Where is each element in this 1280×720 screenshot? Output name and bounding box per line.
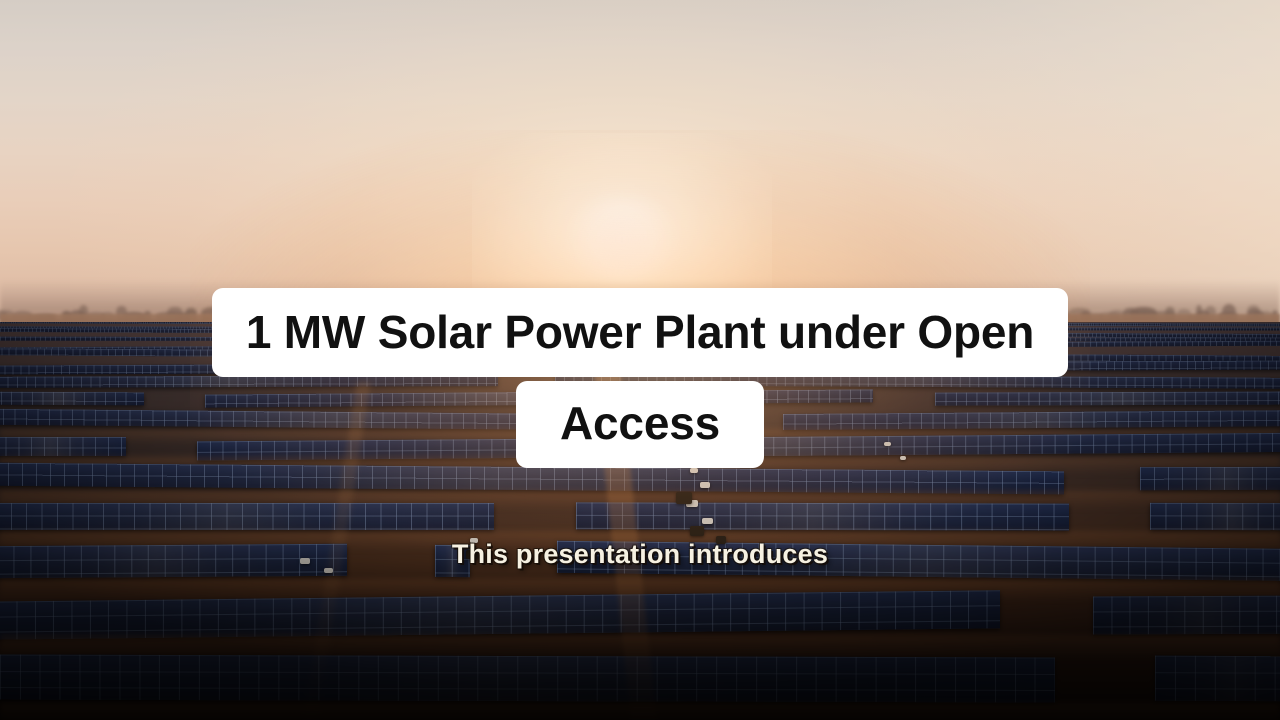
panel-sun-sheen: [576, 502, 1069, 531]
sun-disc: [567, 198, 677, 282]
panel-sun-sheen: [0, 503, 494, 530]
slide-title-block: 1 MW Solar Power Plant under Open Access: [0, 288, 1280, 468]
slide-title-line-1: 1 MW Solar Power Plant under Open: [212, 288, 1068, 377]
solar-panel-row: [576, 502, 1069, 531]
panel-shadow-overlay: [1155, 656, 1280, 702]
panel-shadow-overlay: [1093, 596, 1280, 635]
solar-panel-row: [1093, 596, 1280, 635]
site-equipment: [690, 526, 704, 536]
solar-panel-row: [1150, 502, 1280, 530]
slide-subtitle: This presentation introduces: [0, 539, 1280, 570]
slide-title-line-2: Access: [516, 381, 764, 468]
site-vehicle: [702, 518, 713, 524]
solar-panel-row: [0, 503, 494, 530]
solar-panel-row: [1155, 656, 1280, 702]
presentation-slide: 1 MW Solar Power Plant under Open Access…: [0, 0, 1280, 720]
panel-sun-sheen: [1150, 502, 1280, 530]
panel-shadow-overlay: [0, 655, 1055, 703]
site-vehicle: [690, 468, 698, 473]
solar-panel-row: [0, 655, 1055, 703]
panel-sun-sheen: [1140, 467, 1280, 490]
site-vehicle: [700, 482, 710, 488]
site-equipment: [676, 492, 692, 504]
solar-panel-row: [1140, 467, 1280, 490]
